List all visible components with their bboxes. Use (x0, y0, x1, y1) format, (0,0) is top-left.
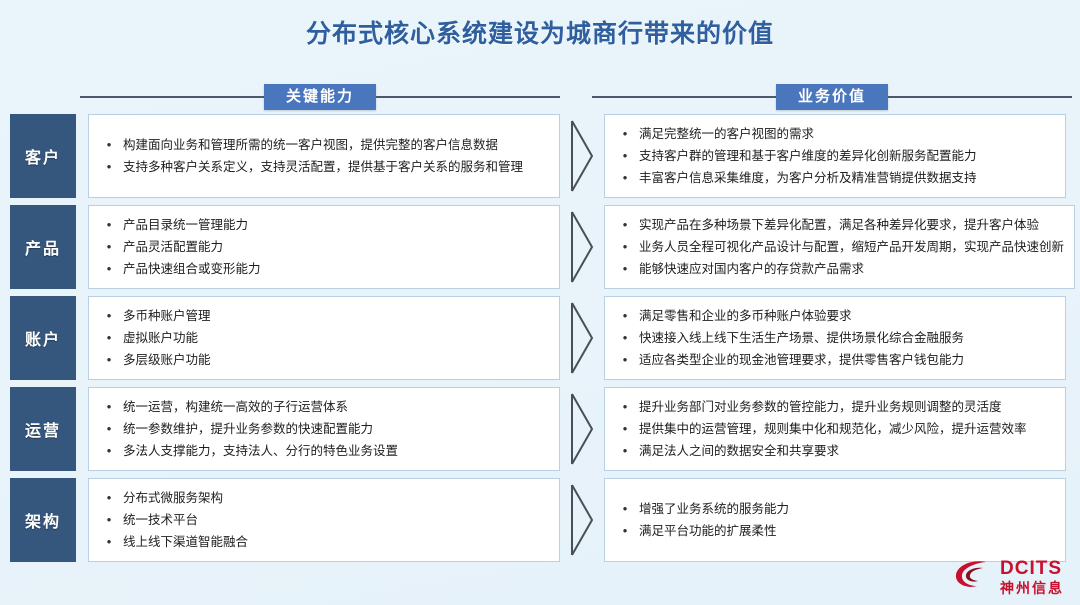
bullet-text: 丰富客户信息采集维度，为客户分析及精准营销提供数据支持 (639, 167, 1055, 189)
bullet-item: •构建面向业务和管理所需的统一客户视图，提供完整的客户信息数据 (95, 134, 549, 156)
flow-arrow-icon (560, 114, 604, 198)
bullet-text: 提升业务部门对业务参数的管控能力，提升业务规则调整的灵活度 (639, 396, 1055, 418)
header-pill-business-value: 业务价值 (776, 84, 888, 110)
bullet-item: •满足平台功能的扩展柔性 (611, 520, 1055, 542)
bullet-item: •快速接入线上线下生活生产场景、提供场景化综合金融服务 (611, 327, 1055, 349)
logo-wordmark: DCITS 神州信息 (1000, 559, 1064, 595)
bullet-item: •产品目录统一管理能力 (95, 214, 549, 236)
capability-box: •多币种账户管理•虚拟账户功能•多层级账户功能 (88, 296, 560, 380)
bullet-dot-icon: • (611, 145, 639, 167)
bullet-text: 快速接入线上线下生活生产场景、提供场景化综合金融服务 (639, 327, 1055, 349)
bullet-item: •满足零售和企业的多币种账户体验要求 (611, 305, 1055, 327)
bullet-text: 多币种账户管理 (123, 305, 549, 327)
bullet-text: 满足法人之间的数据安全和共享要求 (639, 440, 1055, 462)
bullet-dot-icon: • (95, 134, 123, 156)
row-label-2: 产品 (10, 205, 76, 289)
bullet-text: 满足完整统一的客户视图的需求 (639, 123, 1055, 145)
bullet-text: 实现产品在多种场景下差异化配置，满足各种差异化要求，提升客户体验 (639, 214, 1064, 236)
column-header-capabilities: 关键能力 (80, 84, 560, 110)
bullet-text: 虚拟账户功能 (123, 327, 549, 349)
flow-arrow-icon (560, 387, 604, 471)
bullet-dot-icon: • (95, 487, 123, 509)
bullet-text: 多法人支撑能力，支持法人、分行的特色业务设置 (123, 440, 549, 462)
bullet-text: 提供集中的运营管理，规则集中化和规范化，减少风险，提升运营效率 (639, 418, 1055, 440)
value-box: •满足完整统一的客户视图的需求•支持客户群的管理和基于客户维度的差异化创新服务配… (604, 114, 1066, 198)
bullet-item: •适应各类型企业的现金池管理要求，提供零售客户钱包能力 (611, 349, 1055, 371)
capability-box: •统一运营，构建统一高效的子行运营体系•统一参数维护，提升业务参数的快速配置能力… (88, 387, 560, 471)
matrix-row: 产品•产品目录统一管理能力•产品灵活配置能力•产品快速组合或变形能力•实现产品在… (0, 205, 1080, 289)
bullet-text: 能够快速应对国内客户的存贷款产品需求 (639, 258, 1064, 280)
bullet-item: •虚拟账户功能 (95, 327, 549, 349)
value-box: •满足零售和企业的多币种账户体验要求•快速接入线上线下生活生产场景、提供场景化综… (604, 296, 1066, 380)
bullet-text: 业务人员全程可视化产品设计与配置，缩短产品开发周期，实现产品快速创新 (639, 236, 1064, 258)
bullet-item: •统一参数维护，提升业务参数的快速配置能力 (95, 418, 549, 440)
bullet-dot-icon: • (611, 349, 639, 371)
value-box: •提升业务部门对业务参数的管控能力，提升业务规则调整的灵活度•提供集中的运营管理… (604, 387, 1066, 471)
logo-text-chinese: 神州信息 (1000, 581, 1064, 595)
header-rule-right-end (888, 96, 1072, 98)
bullet-item: •统一技术平台 (95, 509, 549, 531)
bullet-dot-icon: • (95, 418, 123, 440)
bullet-text: 满足零售和企业的多币种账户体验要求 (639, 305, 1055, 327)
bullet-item: •增强了业务系统的服务能力 (611, 498, 1055, 520)
bullet-item: •多币种账户管理 (95, 305, 549, 327)
flow-arrow-icon (560, 478, 604, 562)
dcits-swoosh-icon (953, 558, 993, 595)
row-label-4: 运营 (10, 387, 76, 471)
bullet-dot-icon: • (611, 520, 639, 542)
bullet-dot-icon: • (95, 509, 123, 531)
matrix-row: 客户•构建面向业务和管理所需的统一客户视图，提供完整的客户信息数据•支持多种客户… (0, 114, 1080, 198)
logo-text-english: DCITS (1000, 559, 1064, 578)
capability-box: •产品目录统一管理能力•产品灵活配置能力•产品快速组合或变形能力 (88, 205, 560, 289)
header-rule-left-start (80, 96, 264, 98)
bullet-dot-icon: • (95, 214, 123, 236)
value-matrix: 客户•构建面向业务和管理所需的统一客户视图，提供完整的客户信息数据•支持多种客户… (0, 114, 1080, 569)
bullet-text: 统一技术平台 (123, 509, 549, 531)
flow-arrow-icon (560, 205, 604, 289)
bullet-dot-icon: • (95, 531, 123, 553)
capability-box: •构建面向业务和管理所需的统一客户视图，提供完整的客户信息数据•支持多种客户关系… (88, 114, 560, 198)
column-header-business-value: 业务价值 (592, 84, 1072, 110)
bullet-item: •产品快速组合或变形能力 (95, 258, 549, 280)
capability-box: •分布式微服务架构•统一技术平台•线上线下渠道智能融合 (88, 478, 560, 562)
bullet-text: 产品快速组合或变形能力 (123, 258, 549, 280)
column-headers: 关键能力 业务价值 (0, 84, 1080, 110)
bullet-text: 支持多种客户关系定义，支持灵活配置，提供基于客户关系的服务和管理 (123, 156, 549, 178)
bullet-dot-icon: • (95, 349, 123, 371)
bullet-dot-icon: • (95, 305, 123, 327)
bullet-item: •提供集中的运营管理，规则集中化和规范化，减少风险，提升运营效率 (611, 418, 1055, 440)
bullet-item: •提升业务部门对业务参数的管控能力，提升业务规则调整的灵活度 (611, 396, 1055, 418)
bullet-item: •产品灵活配置能力 (95, 236, 549, 258)
bullet-dot-icon: • (95, 440, 123, 462)
bullet-text: 多层级账户功能 (123, 349, 549, 371)
bullet-text: 统一参数维护，提升业务参数的快速配置能力 (123, 418, 549, 440)
bullet-item: •统一运营，构建统一高效的子行运营体系 (95, 396, 549, 418)
bullet-dot-icon: • (95, 156, 123, 178)
bullet-item: •多层级账户功能 (95, 349, 549, 371)
bullet-dot-icon: • (611, 327, 639, 349)
bullet-item: •满足法人之间的数据安全和共享要求 (611, 440, 1055, 462)
bullet-item: •分布式微服务架构 (95, 487, 549, 509)
bullet-item: •丰富客户信息采集维度，为客户分析及精准营销提供数据支持 (611, 167, 1055, 189)
bullet-dot-icon: • (611, 167, 639, 189)
bullet-text: 线上线下渠道智能融合 (123, 531, 549, 553)
bullet-text: 分布式微服务架构 (123, 487, 549, 509)
bullet-dot-icon: • (611, 440, 639, 462)
bullet-text: 支持客户群的管理和基于客户维度的差异化创新服务配置能力 (639, 145, 1055, 167)
header-rule-left-end (376, 96, 560, 98)
bullet-text: 构建面向业务和管理所需的统一客户视图，提供完整的客户信息数据 (123, 134, 549, 156)
value-box: •增强了业务系统的服务能力•满足平台功能的扩展柔性 (604, 478, 1066, 562)
bullet-text: 产品目录统一管理能力 (123, 214, 549, 236)
bullet-item: •实现产品在多种场景下差异化配置，满足各种差异化要求，提升客户体验 (611, 214, 1064, 236)
bullet-text: 满足平台功能的扩展柔性 (639, 520, 1055, 542)
bullet-item: •满足完整统一的客户视图的需求 (611, 123, 1055, 145)
bullet-dot-icon: • (611, 236, 639, 258)
bullet-item: •支持多种客户关系定义，支持灵活配置，提供基于客户关系的服务和管理 (95, 156, 549, 178)
bullet-dot-icon: • (611, 305, 639, 327)
bullet-item: •多法人支撑能力，支持法人、分行的特色业务设置 (95, 440, 549, 462)
bullet-dot-icon: • (611, 498, 639, 520)
matrix-row: 运营•统一运营，构建统一高效的子行运营体系•统一参数维护，提升业务参数的快速配置… (0, 387, 1080, 471)
bullet-text: 统一运营，构建统一高效的子行运营体系 (123, 396, 549, 418)
matrix-row: 架构•分布式微服务架构•统一技术平台•线上线下渠道智能融合•增强了业务系统的服务… (0, 478, 1080, 562)
row-label-5: 架构 (10, 478, 76, 562)
bullet-item: •支持客户群的管理和基于客户维度的差异化创新服务配置能力 (611, 145, 1055, 167)
bullet-text: 适应各类型企业的现金池管理要求，提供零售客户钱包能力 (639, 349, 1055, 371)
bullet-dot-icon: • (95, 396, 123, 418)
row-label-1: 客户 (10, 114, 76, 198)
bullet-dot-icon: • (611, 214, 639, 236)
bullet-dot-icon: • (611, 123, 639, 145)
bullet-item: •业务人员全程可视化产品设计与配置，缩短产品开发周期，实现产品快速创新 (611, 236, 1064, 258)
page-title: 分布式核心系统建设为城商行带来的价值 (0, 14, 1080, 50)
row-label-3: 账户 (10, 296, 76, 380)
value-box: •实现产品在多种场景下差异化配置，满足各种差异化要求，提升客户体验•业务人员全程… (604, 205, 1075, 289)
header-pill-key-capabilities: 关键能力 (264, 84, 376, 110)
bullet-item: •能够快速应对国内客户的存贷款产品需求 (611, 258, 1064, 280)
matrix-row: 账户•多币种账户管理•虚拟账户功能•多层级账户功能•满足零售和企业的多币种账户体… (0, 296, 1080, 380)
bullet-dot-icon: • (95, 258, 123, 280)
header-rule-right-start (592, 96, 776, 98)
flow-arrow-icon (560, 296, 604, 380)
bullet-text: 产品灵活配置能力 (123, 236, 549, 258)
bullet-dot-icon: • (611, 396, 639, 418)
bullet-dot-icon: • (611, 258, 639, 280)
bullet-dot-icon: • (95, 236, 123, 258)
company-logo: DCITS 神州信息 (953, 558, 1064, 595)
bullet-text: 增强了业务系统的服务能力 (639, 498, 1055, 520)
bullet-item: •线上线下渠道智能融合 (95, 531, 549, 553)
bullet-dot-icon: • (611, 418, 639, 440)
bullet-dot-icon: • (95, 327, 123, 349)
